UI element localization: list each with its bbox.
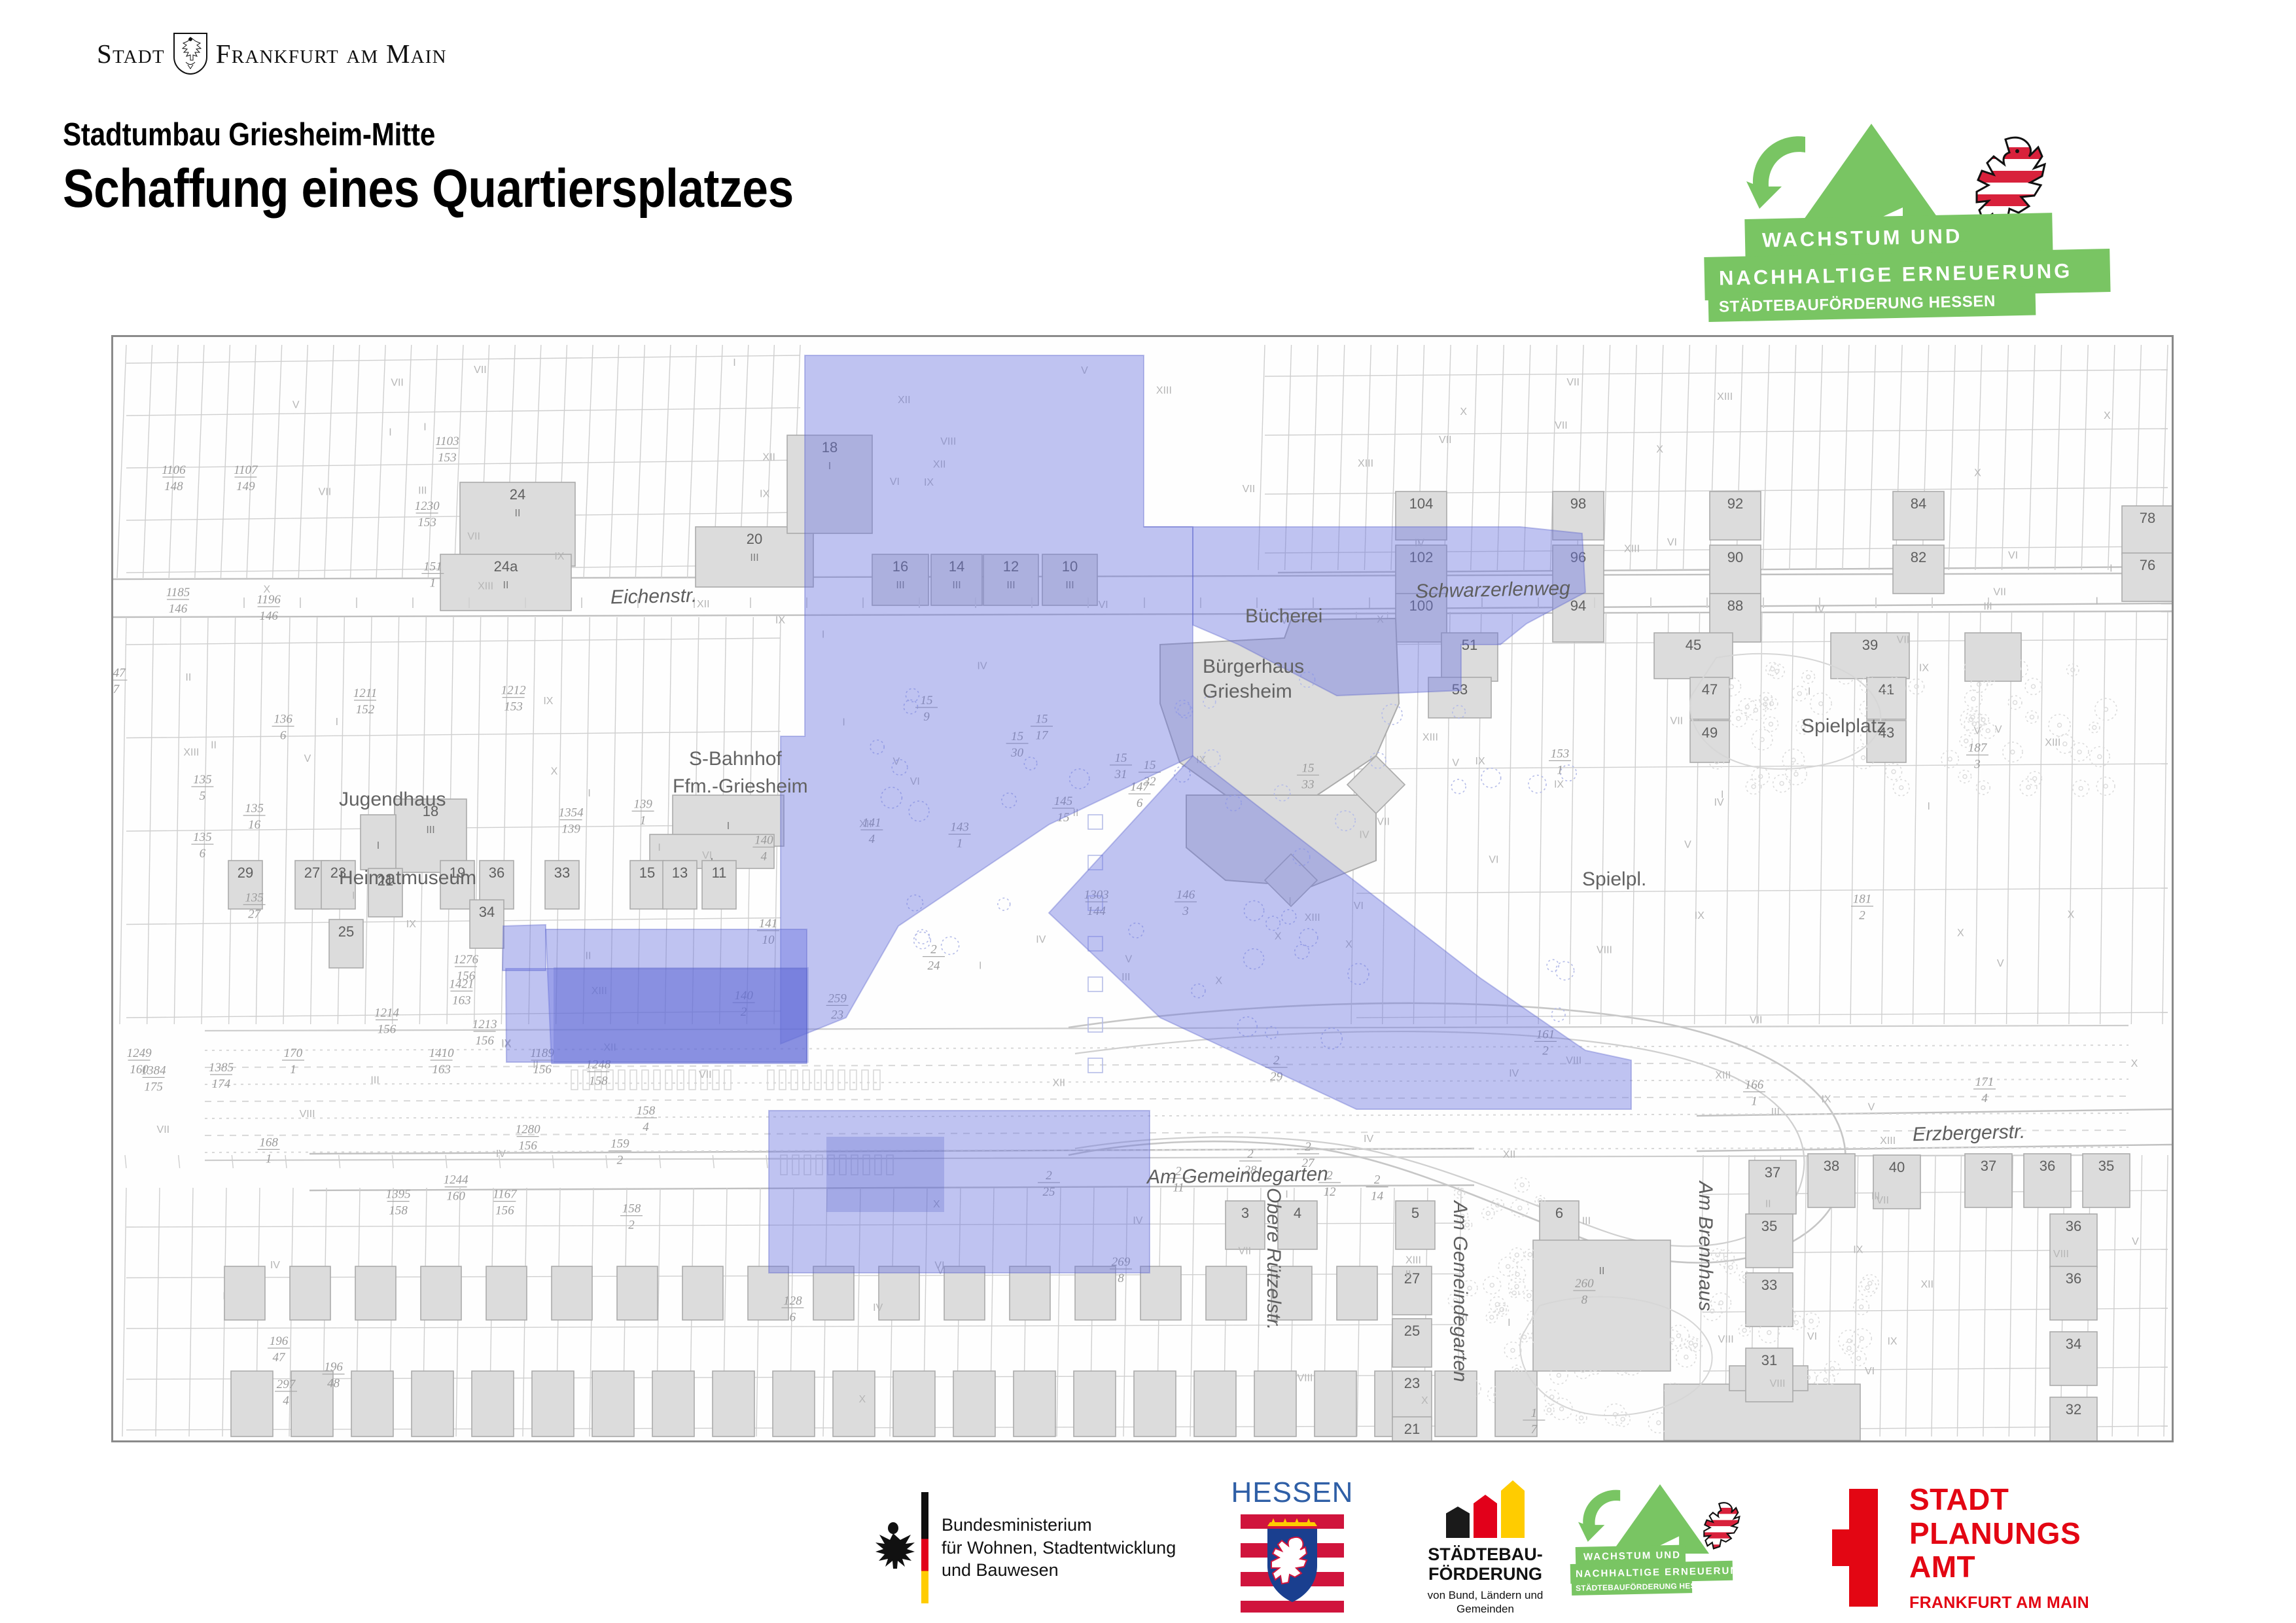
staedtebaufoerderung-logo: STÄDTEBAU- FÖRDERUNG von Bund, Ländern u… [1400, 1472, 1570, 1623]
bmwsb-line-3: und Bauwesen [942, 1559, 1176, 1582]
street-label-am-gemeindegarten: Am Gemeindegarten [1147, 1164, 1328, 1189]
staedtebau-line-3: von Bund, Ländern und [1400, 1589, 1570, 1602]
bmwsb-line-1: Bundesministerium [942, 1514, 1176, 1537]
hessen-lion-icon-small [1699, 1501, 1750, 1567]
spa-block-mark-icon [1832, 1489, 1891, 1607]
hessen-coat-of-arms-icon [1241, 1514, 1344, 1613]
map-canvas: 24II24aII20III18I16III14III12III10III104… [113, 337, 2172, 1440]
street-label-erzbergerstr: Erzbergerstr. [1913, 1121, 2026, 1146]
staedtebau-line-2: FÖRDERUNG [1400, 1564, 1570, 1584]
staedtebau-line-4: Gemeinden [1400, 1603, 1570, 1616]
spa-line-3: AMT [1909, 1550, 2089, 1584]
place-label-jugendhaus: Jugendhaus [339, 789, 446, 811]
street-label-am-brennhaus: Am Brennhaus [1694, 1181, 1716, 1311]
up-arrow-icon-small [1611, 1483, 1709, 1555]
city-logo-text-left: Stadt [97, 38, 165, 69]
city-logo-text-right: Frankfurt am Main [216, 38, 447, 69]
three-houses-icon [1400, 1480, 1570, 1538]
street-label-am-gemeindegarten-2: Am Gemeindegarten [1449, 1201, 1471, 1382]
place-label-buergerhaus: Bürgerhaus [1203, 656, 1304, 678]
bundesadler-icon [870, 1518, 916, 1578]
hessen-label: HESSEN [1227, 1476, 1358, 1509]
staedtebau-line-1: STÄDTEBAU- [1400, 1544, 1570, 1564]
bmwsb-logo: Bundesministerium für Wohnen, Stadtentwi… [870, 1472, 1210, 1623]
german-flag-bar [921, 1492, 928, 1603]
frankfurt-eagle-crest-icon [171, 32, 209, 75]
street-label-schwarzerlenweg: Schwarzerlenweg [1415, 578, 1570, 603]
spa-line-1: STADT [1909, 1483, 2089, 1517]
place-label-spielplatz: Spielplatz [1801, 715, 1886, 738]
spa-text: STADT PLANUNGS AMT FRANKFURT AM MAIN [1909, 1483, 2089, 1613]
place-label-griesheim: Griesheim [1203, 681, 1292, 703]
hessen-logo: HESSEN [1227, 1472, 1358, 1623]
footer-logo-bar: Bundesministerium für Wohnen, Stadtentwi… [0, 1472, 2296, 1623]
stadtplanungsamt-logo: STADT PLANUNGS AMT FRANKFURT AM MAIN [1832, 1472, 2225, 1623]
city-logo: Stadt Frankfurt am Main [97, 31, 516, 76]
page-subtitle: Stadtumbau Griesheim-Mitte [63, 116, 435, 153]
page-header: Stadt Frankfurt am Main Stadtumbau Gries… [0, 0, 2296, 308]
place-label-s-bahnhof: S-Bahnhof [689, 748, 782, 770]
street-label-eichenstr: Eichenstr. [610, 585, 698, 609]
wachstum-und-nachhaltige-erneuerung-logo: WACHSTUM UND NACHHALTIGE ERNEUERUNG STÄD… [1704, 121, 2176, 324]
bmwsb-text: Bundesministerium für Wohnen, Stadtentwi… [942, 1514, 1176, 1582]
spa-line-2: PLANUNGS [1909, 1517, 2089, 1551]
wachstum-footer-logo: WACHSTUM UND NACHHALTIGE ERNEUERUNG STÄD… [1570, 1472, 1767, 1623]
wachstum-footer-band-3: STÄDTEBAUFÖRDERUNG HESSEN [1572, 1578, 1692, 1596]
page-title: Schaffung eines Quartiersplatzes [63, 157, 794, 220]
bmwsb-line-2: für Wohnen, Stadtentwicklung [942, 1537, 1176, 1560]
street-label-obere-ruetzelstr: Obere Rützelstr. [1262, 1188, 1284, 1330]
place-label-spielpl: Spielpl. [1582, 868, 1646, 891]
spa-line-4: FRANKFURT AM MAIN [1909, 1594, 2089, 1613]
wachstum-band-3: STÄDTEBAUFÖRDERUNG HESSEN [1708, 287, 2036, 322]
place-label-buecherei: Bücherei [1245, 605, 1322, 628]
place-label-ffm-griesheim: Ffm.-Griesheim [673, 776, 808, 798]
cadastral-map[interactable]: 24II24aII20III18I16III14III12III10III104… [111, 335, 2174, 1442]
place-label-heimatmuseum: Heimatmuseum [339, 867, 476, 889]
